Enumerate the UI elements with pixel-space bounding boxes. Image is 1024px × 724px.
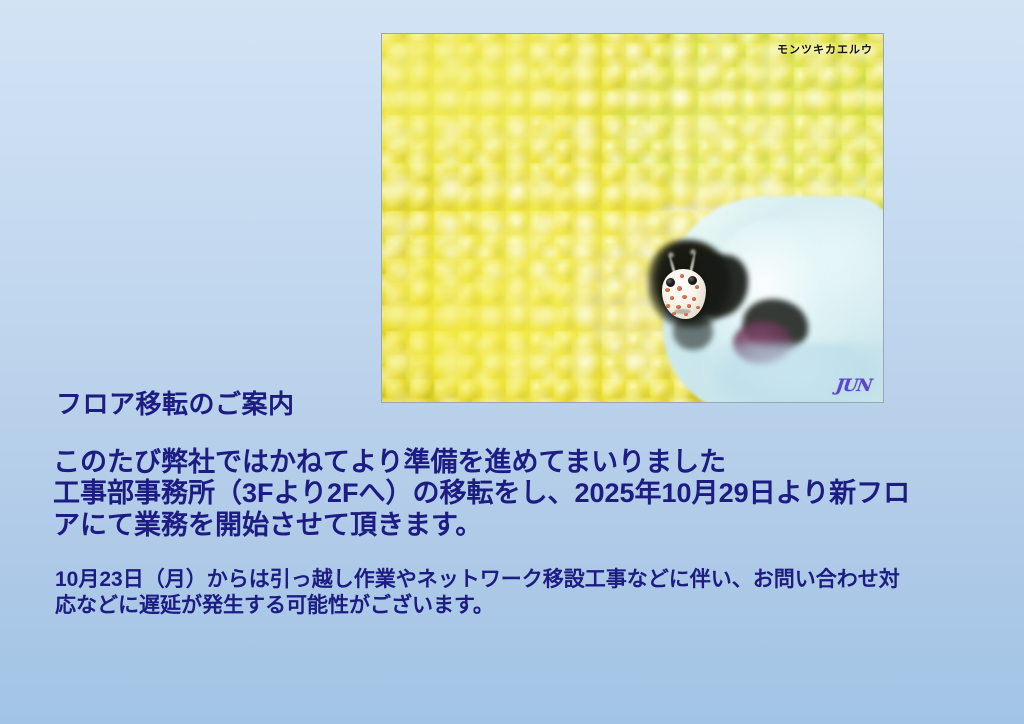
fish-eye-right: [688, 276, 697, 285]
notice-note-line: 応などに遅延が発生する可能性がございます。: [55, 593, 1005, 619]
photo-canvas: モンツキカエルウ JUN: [382, 34, 883, 402]
notice-note: 10月23日（月）からは引っ越し作業やネットワーク移設工事などに伴い、お問い合わ…: [55, 567, 1005, 618]
fish-spot: [665, 288, 670, 292]
photo-species-caption: モンツキカエルウ: [777, 41, 873, 57]
fish-eye-left: [666, 278, 675, 287]
coral-softfocus-topleft: [382, 34, 622, 181]
fish-mouth: [674, 309, 691, 314]
notice-title: フロア移転のご案内: [56, 384, 295, 421]
announcement-slide: モンツキカエルウ JUN フロア移転のご案内 このたび弊社ではかねてより準備を進…: [0, 0, 1024, 724]
notice-note-line: 10月23日（月）からは引っ越し作業やネットワーク移設工事などに伴い、お問い合わ…: [55, 567, 1005, 593]
fish-spot: [670, 296, 674, 300]
notice-body-line: アにて業務を開始させて頂きます。: [53, 510, 1003, 541]
fish-spot: [692, 297, 696, 301]
fish-spot: [687, 304, 691, 308]
fish-spot: [696, 306, 700, 309]
fish-spot: [680, 274, 684, 278]
fish-spot: [677, 286, 682, 291]
notice-body-line: 工事部事務所（3Fより2Fへ）の移転をし、2025年10月29日より新フロ: [53, 478, 1003, 509]
notice-body-line: このたび弊社ではかねてより準備を進めてまいりました: [53, 447, 1003, 478]
photo-signature: JUN: [834, 376, 872, 396]
coral-softfocus-bottomleft: [382, 247, 602, 402]
blenny-fish: [660, 257, 710, 321]
fish-spot: [676, 305, 681, 309]
notice-body: このたび弊社ではかねてより準備を進めてまいりました 工事部事務所（3Fより2Fへ…: [53, 447, 1003, 541]
fish-spot: [666, 304, 670, 308]
coral-photo: モンツキカエルウ JUN: [381, 33, 884, 403]
fish-spot: [682, 295, 687, 299]
fish-spot: [695, 285, 699, 289]
